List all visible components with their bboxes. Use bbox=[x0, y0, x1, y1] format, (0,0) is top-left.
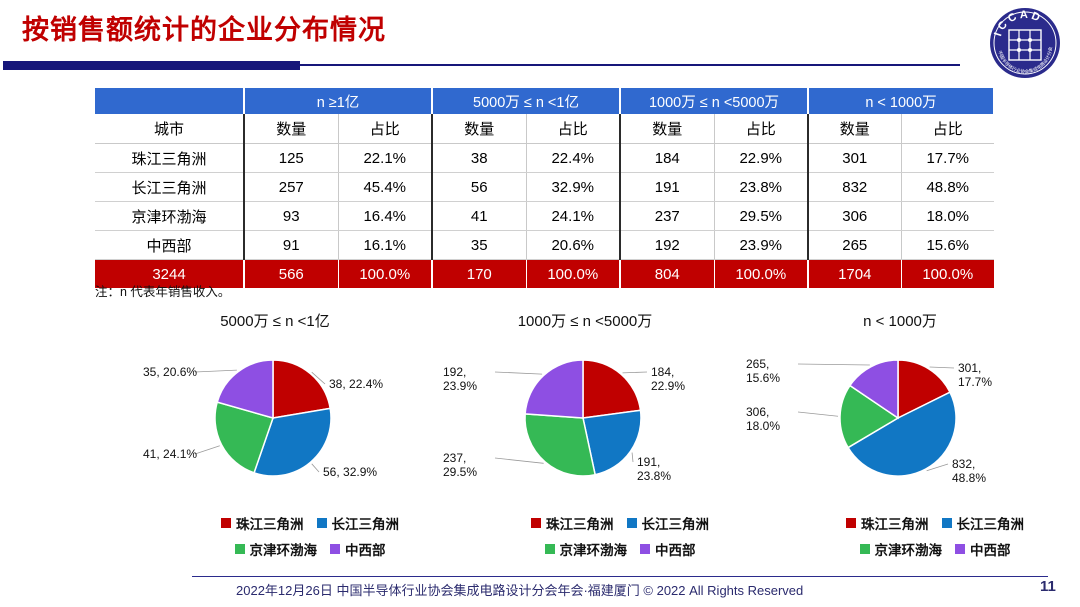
pie-slice bbox=[525, 414, 595, 476]
table-note: 注：n 代表年销售收入。 bbox=[95, 281, 230, 300]
pie-chart-svg: 38, 22.4%56, 32.9%41, 24.1%35, 20.6% bbox=[115, 336, 435, 496]
legend-row: 珠江三角洲长江三角洲 bbox=[160, 513, 460, 533]
legend-label: 中西部 bbox=[655, 539, 696, 559]
total-count: 170 bbox=[432, 260, 526, 289]
legend-swatch-icon bbox=[955, 544, 965, 554]
legend-row: 京津环渤海中西部 bbox=[470, 539, 770, 559]
col-header-count-3: 数量 bbox=[620, 114, 714, 144]
legend-label: 中西部 bbox=[345, 539, 386, 559]
legend-label: 京津环渤海 bbox=[875, 539, 943, 559]
legend-item[interactable]: 京津环渤海 bbox=[860, 539, 943, 559]
cell-share: 29.5% bbox=[714, 202, 808, 231]
footer-text: 2022年12月26日 中国半导体行业协会集成电路设计分会年会·福建厦门 © 2… bbox=[236, 580, 803, 599]
total-share: 100.0% bbox=[338, 260, 432, 289]
chart-legend-0: 珠江三角洲长江三角洲京津环渤海中西部 bbox=[160, 513, 460, 565]
legend-item[interactable]: 长江三角洲 bbox=[942, 513, 1025, 533]
legend-item[interactable]: 珠江三角洲 bbox=[221, 513, 304, 533]
legend-swatch-icon bbox=[235, 544, 245, 554]
group-header-3: 1000万 ≤ n <5000万 bbox=[620, 88, 808, 114]
cell-share: 45.4% bbox=[338, 173, 432, 202]
cell-city: 长江三角洲 bbox=[95, 173, 244, 202]
cell-city: 中西部 bbox=[95, 231, 244, 260]
chart-legend-2: 珠江三角洲长江三角洲京津环渤海中西部 bbox=[785, 513, 1080, 565]
pie-slice-label: 191,23.8% bbox=[637, 455, 671, 483]
distribution-table: n ≥1亿 5000万 ≤ n <1亿 1000万 ≤ n <5000万 n <… bbox=[95, 88, 995, 288]
table-row: 珠江三角洲 125 22.1% 38 22.4% 184 22.9% 301 1… bbox=[95, 144, 994, 173]
pie-label-leader bbox=[632, 453, 633, 462]
legend-item[interactable]: 中西部 bbox=[955, 539, 1011, 559]
legend-label: 珠江三角洲 bbox=[236, 513, 304, 533]
cell-share: 18.0% bbox=[901, 202, 994, 231]
legend-item[interactable]: 珠江三角洲 bbox=[531, 513, 614, 533]
pie-slice-label: 41, 24.1% bbox=[143, 447, 197, 461]
total-count: 566 bbox=[244, 260, 338, 289]
pie-label-leader bbox=[623, 372, 647, 373]
cell-count: 237 bbox=[620, 202, 714, 231]
table-row: 中西部 91 16.1% 35 20.6% 192 23.9% 265 15.6… bbox=[95, 231, 994, 260]
cell-count: 125 bbox=[244, 144, 338, 173]
pie-slice-label: 56, 32.9% bbox=[323, 465, 377, 479]
title-rule-thick bbox=[3, 61, 300, 70]
group-header-1: n ≥1亿 bbox=[244, 88, 432, 114]
pie-chart-svg: 184,22.9%191,23.8%237,29.5%192,23.9% bbox=[425, 336, 745, 496]
pie-slice-label: 301,17.7% bbox=[958, 361, 992, 389]
legend-swatch-icon bbox=[545, 544, 555, 554]
col-header-share-2: 占比 bbox=[526, 114, 620, 144]
cell-share: 22.9% bbox=[714, 144, 808, 173]
page-number: 11 bbox=[1040, 578, 1056, 595]
total-count: 804 bbox=[620, 260, 714, 289]
pie-slice-label: 237,29.5% bbox=[443, 451, 477, 479]
pie-chart-title: 1000万 ≤ n <5000万 bbox=[425, 310, 745, 331]
cell-city: 京津环渤海 bbox=[95, 202, 244, 231]
pie-slice-label: 184,22.9% bbox=[651, 365, 685, 393]
pie-slice-label: 38, 22.4% bbox=[329, 377, 383, 391]
legend-row: 珠江三角洲长江三角洲 bbox=[785, 513, 1080, 533]
cell-count: 91 bbox=[244, 231, 338, 260]
legend-item[interactable]: 珠江三角洲 bbox=[846, 513, 929, 533]
cell-share: 22.1% bbox=[338, 144, 432, 173]
cell-share: 20.6% bbox=[526, 231, 620, 260]
total-count: 1704 bbox=[808, 260, 901, 289]
col-header-share-3: 占比 bbox=[714, 114, 808, 144]
cell-count: 38 bbox=[432, 144, 526, 173]
cell-count: 184 bbox=[620, 144, 714, 173]
cell-share: 23.9% bbox=[714, 231, 808, 260]
cell-share: 32.9% bbox=[526, 173, 620, 202]
pie-slice-label: 265,15.6% bbox=[746, 357, 780, 385]
total-share: 100.0% bbox=[526, 260, 620, 289]
cell-count: 301 bbox=[808, 144, 901, 173]
legend-item[interactable]: 中西部 bbox=[640, 539, 696, 559]
chart-legend-1: 珠江三角洲长江三角洲京津环渤海中西部 bbox=[470, 513, 770, 565]
iccad-logo-icon: I C C A D 中国半导体行业协会集成电路设计分会 bbox=[988, 6, 1062, 80]
cell-share: 16.1% bbox=[338, 231, 432, 260]
cell-count: 306 bbox=[808, 202, 901, 231]
pie-chart-title: n < 1000万 bbox=[740, 310, 1060, 331]
legend-swatch-icon bbox=[531, 518, 541, 528]
legend-item[interactable]: 长江三角洲 bbox=[627, 513, 710, 533]
cell-count: 35 bbox=[432, 231, 526, 260]
col-header-count-2: 数量 bbox=[432, 114, 526, 144]
legend-swatch-icon bbox=[640, 544, 650, 554]
pie-slice bbox=[525, 360, 583, 418]
cell-count: 41 bbox=[432, 202, 526, 231]
pie-label-leader bbox=[495, 372, 542, 374]
title-rule-thin bbox=[300, 64, 960, 66]
legend-label: 中西部 bbox=[970, 539, 1011, 559]
legend-swatch-icon bbox=[317, 518, 327, 528]
legend-swatch-icon bbox=[330, 544, 340, 554]
table-row: 长江三角洲 257 45.4% 56 32.9% 191 23.8% 832 4… bbox=[95, 173, 994, 202]
legend-label: 珠江三角洲 bbox=[861, 513, 929, 533]
legend-item[interactable]: 中西部 bbox=[330, 539, 386, 559]
pie-label-leader bbox=[798, 364, 870, 365]
cell-share: 24.1% bbox=[526, 202, 620, 231]
legend-label: 京津环渤海 bbox=[560, 539, 628, 559]
pie-chart-title: 5000万 ≤ n <1亿 bbox=[115, 310, 435, 331]
legend-item[interactable]: 长江三角洲 bbox=[317, 513, 400, 533]
legend-swatch-icon bbox=[221, 518, 231, 528]
pie-label-leader bbox=[195, 370, 237, 372]
legend-row: 珠江三角洲长江三角洲 bbox=[470, 513, 770, 533]
pie-slice bbox=[583, 360, 640, 418]
total-share: 100.0% bbox=[901, 260, 994, 289]
legend-item[interactable]: 京津环渤海 bbox=[235, 539, 318, 559]
cell-share: 23.8% bbox=[714, 173, 808, 202]
cell-count: 832 bbox=[808, 173, 901, 202]
pie-slice-label: 832,48.8% bbox=[952, 457, 986, 485]
legend-swatch-icon bbox=[860, 544, 870, 554]
pie-label-leader bbox=[195, 446, 220, 454]
cell-city: 珠江三角洲 bbox=[95, 144, 244, 173]
legend-swatch-icon bbox=[942, 518, 952, 528]
pie-slice-label: 35, 20.6% bbox=[143, 365, 197, 379]
table-row: 京津环渤海 93 16.4% 41 24.1% 237 29.5% 306 18… bbox=[95, 202, 994, 231]
pie-slice-label: 192,23.9% bbox=[443, 365, 477, 393]
pie-label-leader bbox=[312, 464, 319, 472]
cell-count: 192 bbox=[620, 231, 714, 260]
legend-row: 京津环渤海中西部 bbox=[160, 539, 460, 559]
table-sub-header-row: 城市 数量 占比 数量 占比 数量 占比 数量 占比 bbox=[95, 114, 994, 144]
group-header-2: 5000万 ≤ n <1亿 bbox=[432, 88, 620, 114]
pie-slice-label: 306,18.0% bbox=[746, 405, 780, 433]
legend-label: 京津环渤海 bbox=[250, 539, 318, 559]
col-header-count-1: 数量 bbox=[244, 114, 338, 144]
group-header-blank bbox=[95, 88, 244, 114]
cell-count: 56 bbox=[432, 173, 526, 202]
legend-row: 京津环渤海中西部 bbox=[785, 539, 1080, 559]
col-header-share-1: 占比 bbox=[338, 114, 432, 144]
group-header-4: n < 1000万 bbox=[808, 88, 994, 114]
legend-label: 珠江三角洲 bbox=[546, 513, 614, 533]
pie-label-leader bbox=[798, 412, 838, 416]
legend-swatch-icon bbox=[846, 518, 856, 528]
iccad-logo: I C C A D 中国半导体行业协会集成电路设计分会 bbox=[988, 6, 1062, 80]
total-share: 100.0% bbox=[714, 260, 808, 289]
legend-label: 长江三角洲 bbox=[642, 513, 710, 533]
pie-label-leader bbox=[495, 458, 544, 463]
cell-share: 48.8% bbox=[901, 173, 994, 202]
pie-label-leader bbox=[930, 367, 954, 368]
page-title: 按销售额统计的企业分布情况 bbox=[22, 8, 386, 47]
col-header-city: 城市 bbox=[95, 114, 244, 144]
cell-share: 16.4% bbox=[338, 202, 432, 231]
legend-item[interactable]: 京津环渤海 bbox=[545, 539, 628, 559]
cell-share: 15.6% bbox=[901, 231, 994, 260]
table-group-header-row: n ≥1亿 5000万 ≤ n <1亿 1000万 ≤ n <5000万 n <… bbox=[95, 88, 994, 114]
legend-label: 长江三角洲 bbox=[332, 513, 400, 533]
cell-share: 22.4% bbox=[526, 144, 620, 173]
cell-count: 93 bbox=[244, 202, 338, 231]
legend-label: 长江三角洲 bbox=[957, 513, 1025, 533]
cell-count: 257 bbox=[244, 173, 338, 202]
footer-rule bbox=[192, 576, 1048, 577]
pie-chart-svg: 301,17.7%832,48.8%306,18.0%265,15.6% bbox=[740, 336, 1060, 496]
cell-count: 265 bbox=[808, 231, 901, 260]
col-header-share-4: 占比 bbox=[901, 114, 994, 144]
legend-swatch-icon bbox=[627, 518, 637, 528]
cell-share: 17.7% bbox=[901, 144, 994, 173]
col-header-count-4: 数量 bbox=[808, 114, 901, 144]
cell-count: 191 bbox=[620, 173, 714, 202]
